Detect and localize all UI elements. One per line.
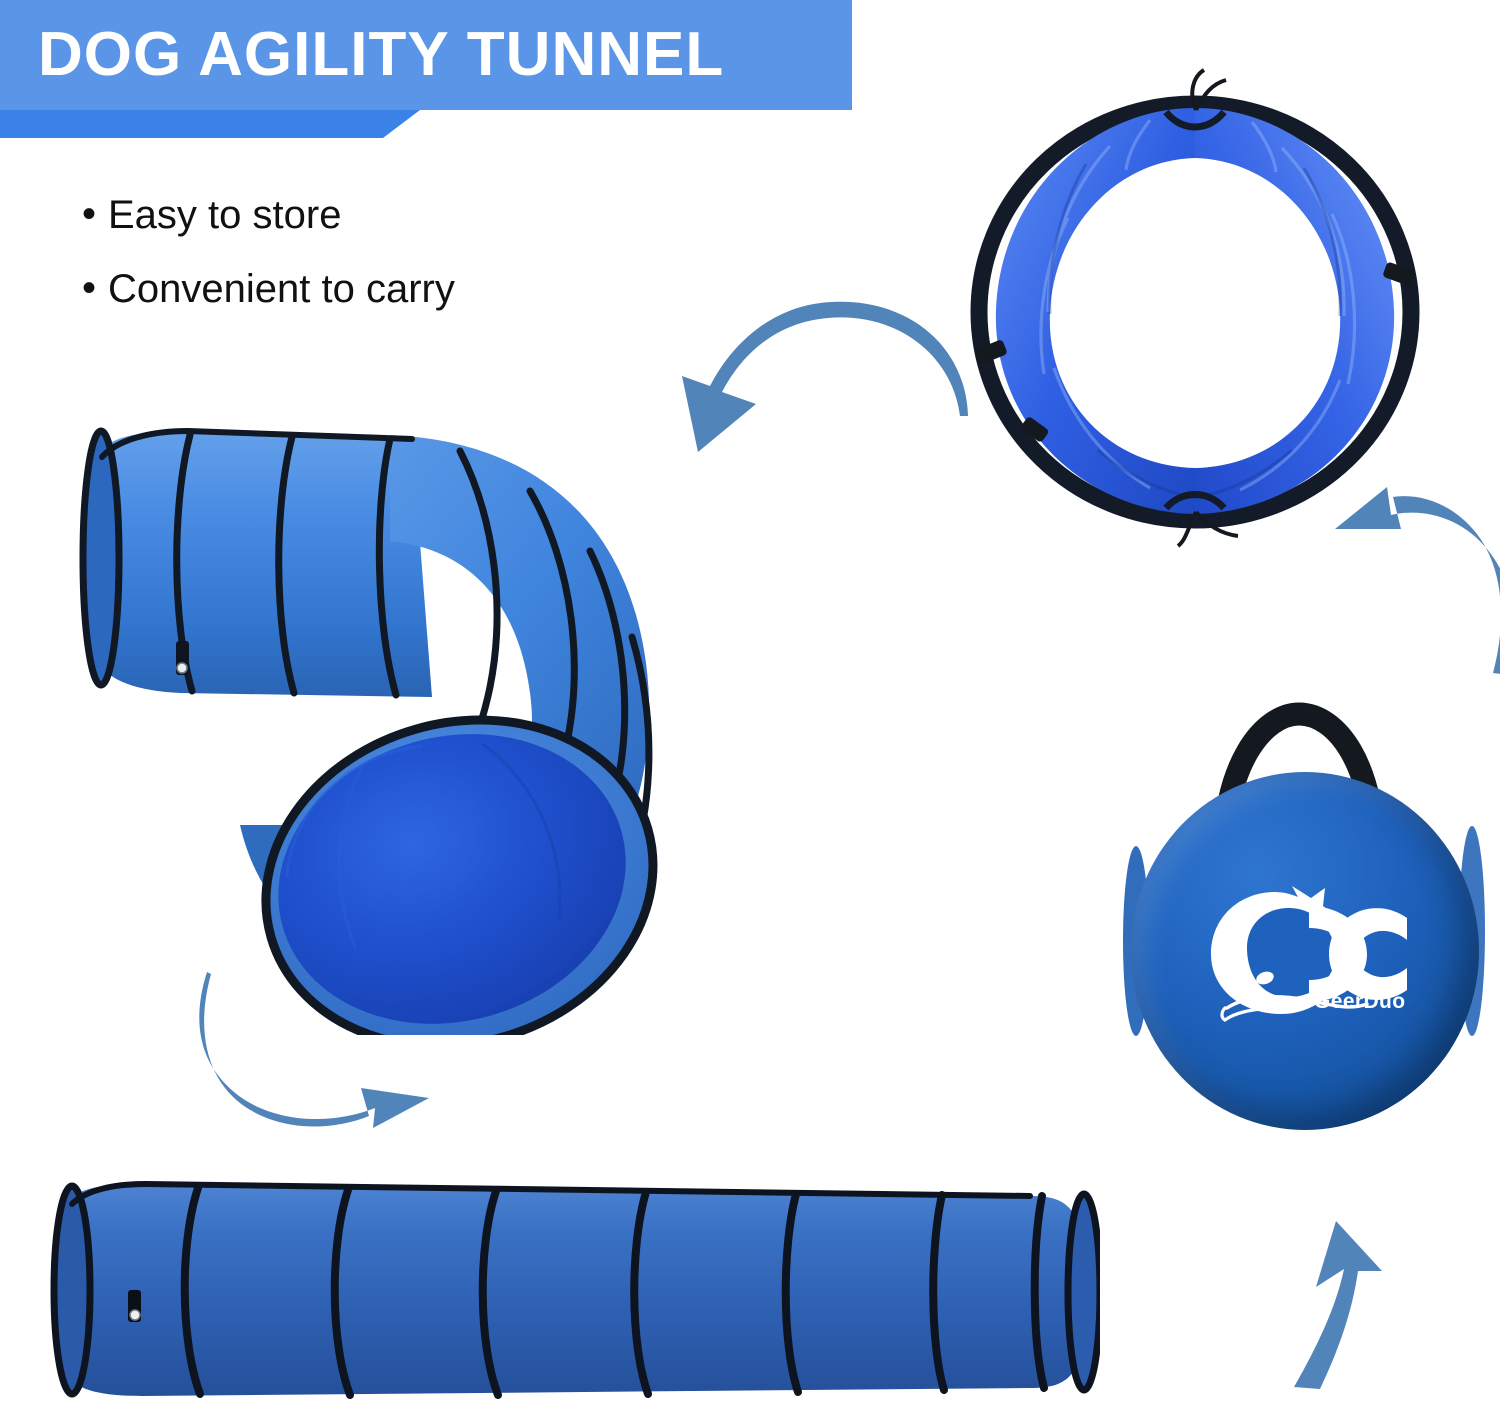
folded-tunnel-photo [960,68,1430,548]
carry-bag-photo: GeerDuo [1095,676,1495,1176]
grommet-tab-icon [128,1290,141,1322]
arrow-shape [199,972,429,1128]
bullet-dot-icon: • [82,266,108,310]
brand-name: GeerDuo [1314,990,1406,1014]
list-item: • Convenient to carry [82,266,702,312]
arrow-straight-to-bag [1240,1195,1440,1390]
arrow-curved-to-ring-top [660,300,970,460]
page-title: DOG AGILITY TUNNEL [38,14,828,96]
feature-label: Convenient to carry [108,266,455,312]
list-item: • Easy to store [82,192,702,238]
arrow-curved-to-straight [185,970,435,1130]
header-accent-strip [0,110,420,138]
grommet-tab-icon [176,641,189,675]
folded-ring-illustration [960,68,1430,548]
arrow-shape [1335,487,1500,675]
curved-tunnel-illustration [60,425,860,1035]
arrow-shape [682,302,968,452]
straight-tunnel-photo [30,1178,1100,1413]
arrow-bag-to-ring [1325,485,1500,675]
feature-list: • Easy to store • Convenient to carry [82,192,702,340]
product-infographic: DOG AGILITY TUNNEL • Easy to store • Con… [0,0,1500,1413]
logo-swoosh-cap [1222,1008,1225,1020]
logo-swoosh [1225,1008,1295,1020]
bullet-dot-icon: • [82,192,108,236]
curved-tunnel-photo [60,425,860,1035]
feature-label: Easy to store [108,192,341,238]
ring-inner-hole [1087,200,1303,424]
arrow-shape [1294,1221,1382,1389]
straight-tunnel-illustration [30,1178,1100,1413]
